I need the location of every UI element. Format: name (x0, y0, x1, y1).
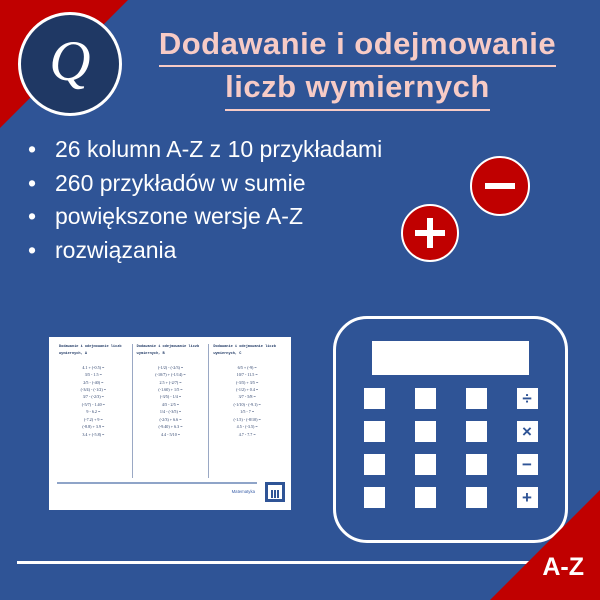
worksheet-equation: 4.1 + (-0.5) = (82, 365, 104, 371)
worksheet-footer: Matematyka (55, 480, 285, 506)
worksheet-equation-list: 6/5 + (-9) = 10/7 - 11.5 = (-3/5) + 3/5 … (213, 365, 281, 478)
worksheet-equation: (-10/7) + (-1/14) = (155, 372, 185, 378)
worksheet-equation: (-1/10) - (-9.1) = (234, 402, 261, 408)
worksheet-footer-label: Matematyka (232, 489, 255, 494)
plus-badge-icon (401, 204, 459, 262)
worksheet-equation: 9 - 6.2 = (86, 409, 100, 415)
worksheet-equation: 3.4 + (-5.8) = (82, 432, 104, 438)
list-item: • powiększone wersje A-Z (28, 200, 388, 233)
worksheet-columns: Dodawanie i odejmowanie liczb wymiernych… (55, 344, 285, 478)
list-item-label: 26 kolumn A-Z z 10 przykładami (55, 133, 388, 166)
calculator-multiply-key: × (517, 421, 538, 442)
calculator-divide-key: ÷ (517, 388, 538, 409)
list-item-label: rozwiązania (55, 234, 388, 267)
plus-vertical-bar (427, 218, 433, 248)
worksheet-column-heading: Dodawanie i odejmowanie liczb wymiernych… (213, 344, 281, 358)
calculator-number-key (415, 388, 436, 409)
calculator-number-key (415, 421, 436, 442)
worksheet-equation: 4.4 - 5/10 = (161, 432, 180, 438)
calculator-number-key (364, 454, 385, 475)
page-title-line-2: liczb wymiernych (225, 67, 490, 110)
worksheet-equation: 4.7 - 7.7 = (239, 432, 256, 438)
minus-badge-icon (470, 156, 530, 216)
worksheet-equation: 3/5 - 1.5 = (85, 372, 102, 378)
worksheet-column-heading: Dodawanie i odejmowanie liczb wymiernych… (59, 344, 128, 358)
bullet-marker-icon: • (28, 234, 55, 267)
worksheet-equation: (-1.60) + 1/5 = (158, 387, 182, 393)
list-item-label: powiększone wersje A-Z (55, 200, 388, 233)
calculator-number-key (364, 421, 385, 442)
worksheet-equation: 4.5 - (-3.5) = (237, 424, 258, 430)
feature-list: • 26 kolumn A-Z z 10 przykładami • 260 p… (28, 133, 388, 268)
worksheet-equation-list: 4.1 + (-0.5) = 3/5 - 1.5 = 2/5 - (-40) =… (59, 365, 128, 478)
worksheet-equation: (-3/5) - 1/4 = (160, 394, 181, 400)
worksheet-equation: (-1.5) - (-8/10) = (234, 417, 261, 423)
minus-horizontal-bar (485, 183, 515, 189)
bullet-marker-icon: • (28, 167, 55, 200)
worksheet-column-b: Dodawanie i odejmowanie liczb wymiernych… (132, 344, 209, 478)
worksheet-equation: 2.5 + (-2/7) = (159, 380, 181, 386)
page-title-line-1: Dodawanie i odejmowanie (159, 24, 556, 67)
worksheet-footer-divider (57, 482, 257, 484)
calculator-number-key (415, 454, 436, 475)
list-item: • rozwiązania (28, 234, 388, 267)
list-item: • 26 kolumn A-Z z 10 przykładami (28, 133, 388, 166)
worksheet-column-c: Dodawanie i odejmowanie liczb wymiernych… (208, 344, 285, 478)
worksheet-equation: (-3/4) - (-1/2) = (81, 387, 106, 393)
worksheet-equation-list: (-1/2) - (-2/3) = (-10/7) + (-1/14) = 2.… (137, 365, 205, 478)
worksheet-equation: 10/7 - 11.5 = (237, 372, 258, 378)
calculator-number-key (466, 454, 487, 475)
worksheet-footer-logo (265, 482, 285, 502)
worksheet-equation: 4/5 - 2/5 = (162, 402, 179, 408)
bullet-marker-icon: • (28, 200, 55, 233)
worksheet-equation: (-7.2) + 9 = (84, 417, 103, 423)
calculator-number-key (466, 421, 487, 442)
worksheet-equation: 3/7 - 5/8 = (239, 394, 256, 400)
worksheet-equation: (-1/2) - (-2/3) = (158, 365, 183, 371)
worksheet-preview: Dodawanie i odejmowanie liczb wymiernych… (44, 332, 296, 515)
worksheet-equation: 2/5 - (-40) = (83, 380, 103, 386)
worksheet-equation: 1/5 - 7 = (240, 409, 254, 415)
bank-building-columns (271, 490, 280, 498)
brand-logo: Q (18, 12, 122, 116)
calculator-minus-key: − (517, 454, 538, 475)
calculator-number-key (466, 388, 487, 409)
calculator-display (372, 341, 529, 375)
brand-logo-letter: Q (49, 33, 90, 96)
worksheet-equation: (-2/3) + 6.6 = (159, 417, 181, 423)
worksheet-equation: (-1/2) + 0.4 = (236, 387, 258, 393)
worksheet-equation: 6/5 + (-9) = (238, 365, 257, 371)
list-item-label: 260 przykładów w sumie (55, 167, 388, 200)
worksheet-column-heading: Dodawanie i odejmowanie liczb wymiernych… (137, 344, 205, 358)
az-badge-label: A-Z (542, 553, 584, 582)
worksheet-page: Dodawanie i odejmowanie liczb wymiernych… (49, 337, 291, 510)
worksheet-equation: 1/4 - (-3/5) = (160, 409, 181, 415)
bullet-marker-icon: • (28, 133, 55, 166)
worksheet-equation: (-9.40) + 6.3 = (158, 424, 182, 430)
list-item: • 260 przykładów w sumie (28, 167, 388, 200)
bank-building-icon (268, 485, 282, 499)
worksheet-equation: (-3/5) + 3/5 = (236, 380, 258, 386)
calculator-number-key (364, 388, 385, 409)
worksheet-equation: 3/7 - (-2/3) = (83, 394, 104, 400)
poster-canvas: Q Dodawanie i odejmowanie liczb wymierny… (0, 0, 600, 600)
worksheet-column-a: Dodawanie i odejmowanie liczb wymiernych… (55, 344, 132, 478)
worksheet-equation: (-5/7) - 1.40 = (82, 402, 105, 408)
calculator-number-key (415, 487, 436, 508)
worksheet-equation: (-8.8) + 3.9 = (82, 424, 104, 430)
page-title: Dodawanie i odejmowanie liczb wymiernych (130, 24, 585, 111)
calculator-number-key (466, 487, 487, 508)
calculator-number-key (364, 487, 385, 508)
bottom-right-red-corner (490, 490, 600, 600)
